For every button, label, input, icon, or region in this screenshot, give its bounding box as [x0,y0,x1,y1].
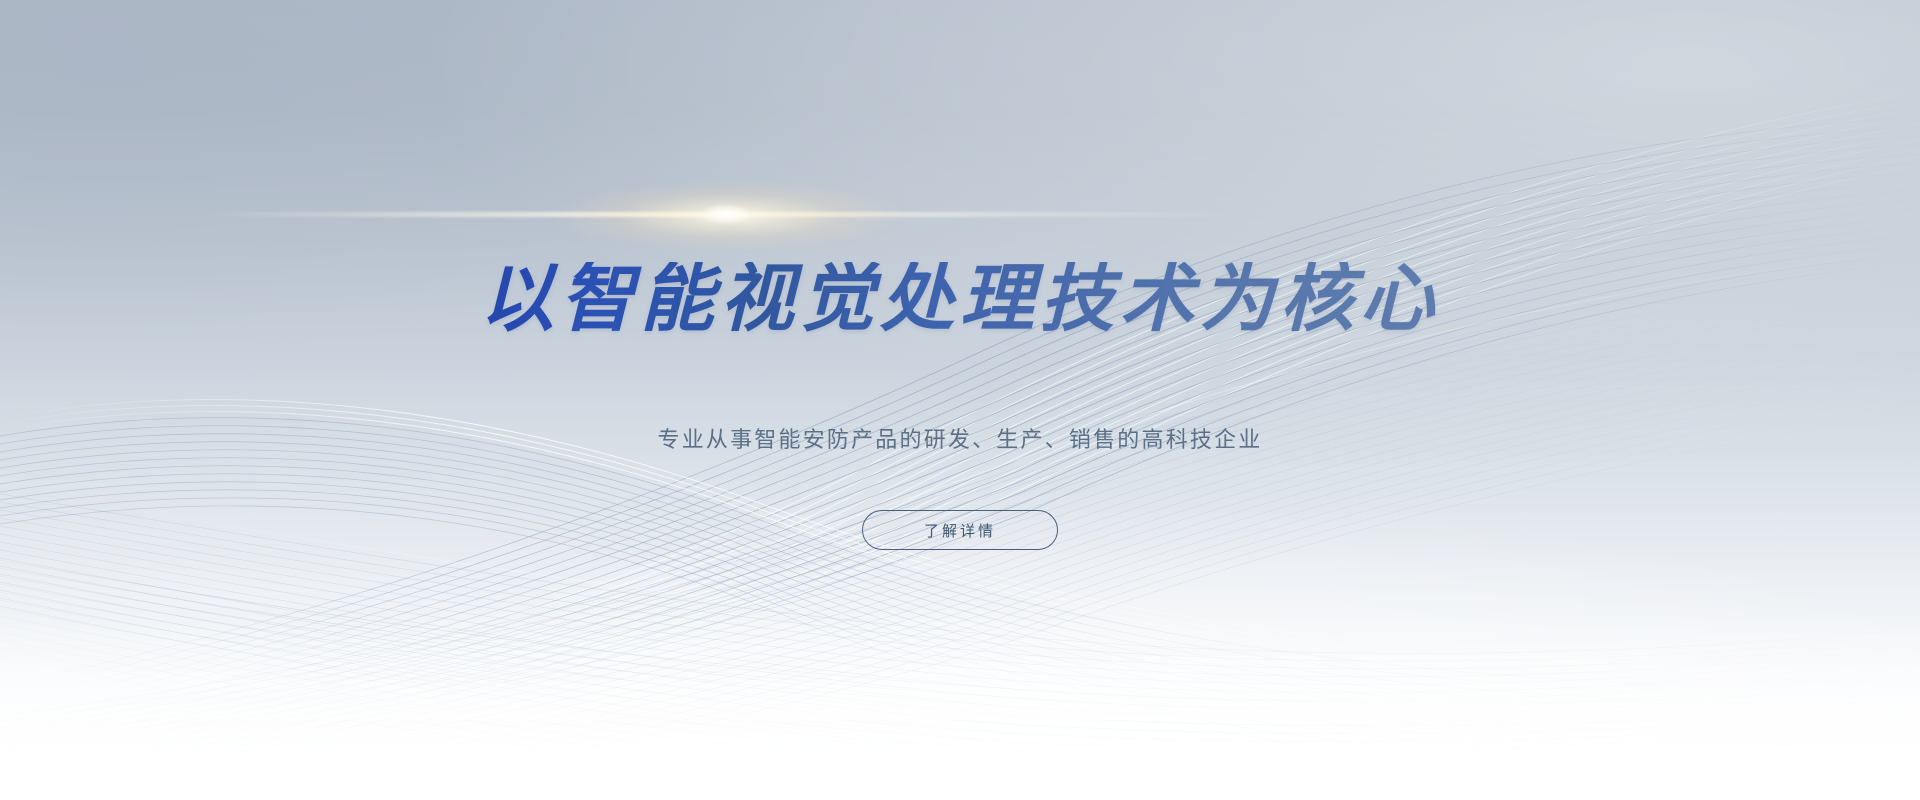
hero-content: 以智能视觉处理技术为核心 专业从事智能安防产品的研发、生产、销售的高科技企业 了… [0,0,1920,800]
hero-banner: 以智能视觉处理技术为核心 专业从事智能安防产品的研发、生产、销售的高科技企业 了… [0,0,1920,800]
hero-subtitle: 专业从事智能安防产品的研发、生产、销售的高科技企业 [657,426,1262,457]
learn-more-button[interactable]: 了解详情 [862,510,1058,550]
page-title: 以智能视觉处理技术为核心 [480,262,1440,336]
